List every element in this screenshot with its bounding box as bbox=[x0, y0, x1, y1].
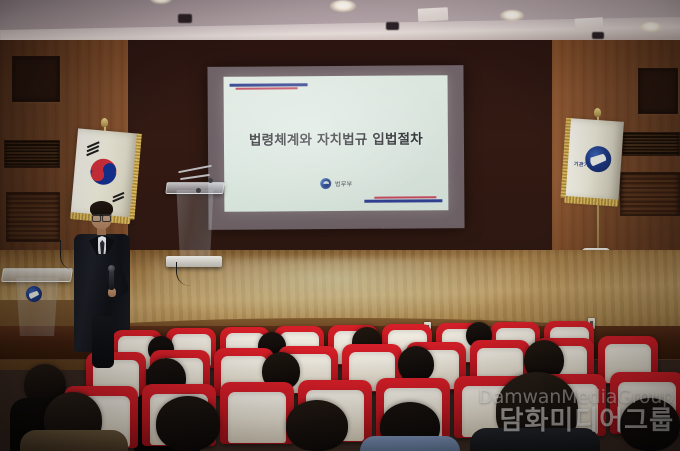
auditorium-lecture-photo: 법령체계와 자치법규 입법절차 법무부 bbox=[0, 0, 680, 451]
wall-panel-recess bbox=[638, 68, 678, 114]
ceiling-fixture-icon bbox=[386, 22, 399, 30]
audience-person-body bbox=[360, 436, 460, 451]
projection-screen: 법령체계와 자치법규 입법절차 법무부 bbox=[207, 65, 464, 230]
wall-panel-recess bbox=[12, 56, 60, 102]
audience-person-head bbox=[156, 396, 220, 451]
slide-title-text: 법령체계와 자치법규 입법절차 bbox=[224, 127, 448, 149]
slide-logo-label: 법무부 bbox=[335, 179, 353, 188]
audience-person-head bbox=[286, 400, 348, 451]
audience-person-head bbox=[398, 346, 434, 382]
auditorium-seat bbox=[220, 382, 294, 444]
wall-louver-grille bbox=[620, 172, 680, 216]
ministry-of-justice-emblem-icon bbox=[320, 178, 331, 189]
audience-person-body bbox=[470, 428, 600, 451]
lectern-column bbox=[174, 190, 216, 258]
presenter-neck bbox=[97, 228, 106, 235]
lectern-mic-head-icon bbox=[196, 188, 201, 193]
ceiling-light-icon bbox=[330, 0, 356, 12]
institution-emblem-icon bbox=[584, 145, 612, 173]
ceiling-light-icon bbox=[500, 10, 524, 21]
emblem-swoosh-icon bbox=[29, 290, 39, 300]
ceiling-fixture-icon bbox=[178, 14, 192, 23]
ceiling-fixture-icon bbox=[592, 32, 604, 39]
audience-person-body bbox=[20, 430, 128, 451]
slide-logo: 법무부 bbox=[224, 177, 448, 190]
wall-air-vent bbox=[4, 140, 60, 168]
flag-finial-icon bbox=[101, 118, 108, 127]
seat-cushion bbox=[228, 392, 286, 443]
handheld-microphone bbox=[109, 270, 114, 290]
taegeuk-symbol-icon bbox=[86, 155, 120, 189]
lectern-mic-head-icon bbox=[208, 178, 213, 183]
ceiling-speaker-icon bbox=[575, 17, 604, 30]
projected-slide: 법령체계와 자치법규 입법절차 법무부 bbox=[224, 75, 449, 212]
lectern-emblem-icon bbox=[26, 286, 42, 302]
ceiling-speaker-icon bbox=[418, 7, 449, 22]
flag-finial-icon bbox=[594, 108, 601, 117]
ceiling-light-icon bbox=[640, 22, 662, 32]
emblem-swoosh-icon bbox=[590, 152, 607, 169]
microphone-head-icon bbox=[108, 265, 115, 272]
institution-flag-label: 기관기 bbox=[574, 161, 589, 169]
audience-person-head bbox=[620, 398, 680, 451]
flag-cloth: 기관기 bbox=[564, 118, 623, 202]
wall-air-vent bbox=[622, 132, 680, 156]
presenter-glasses-icon bbox=[92, 214, 111, 220]
wall-louver-grille bbox=[6, 192, 60, 242]
standing-person-silhouette bbox=[92, 316, 114, 368]
